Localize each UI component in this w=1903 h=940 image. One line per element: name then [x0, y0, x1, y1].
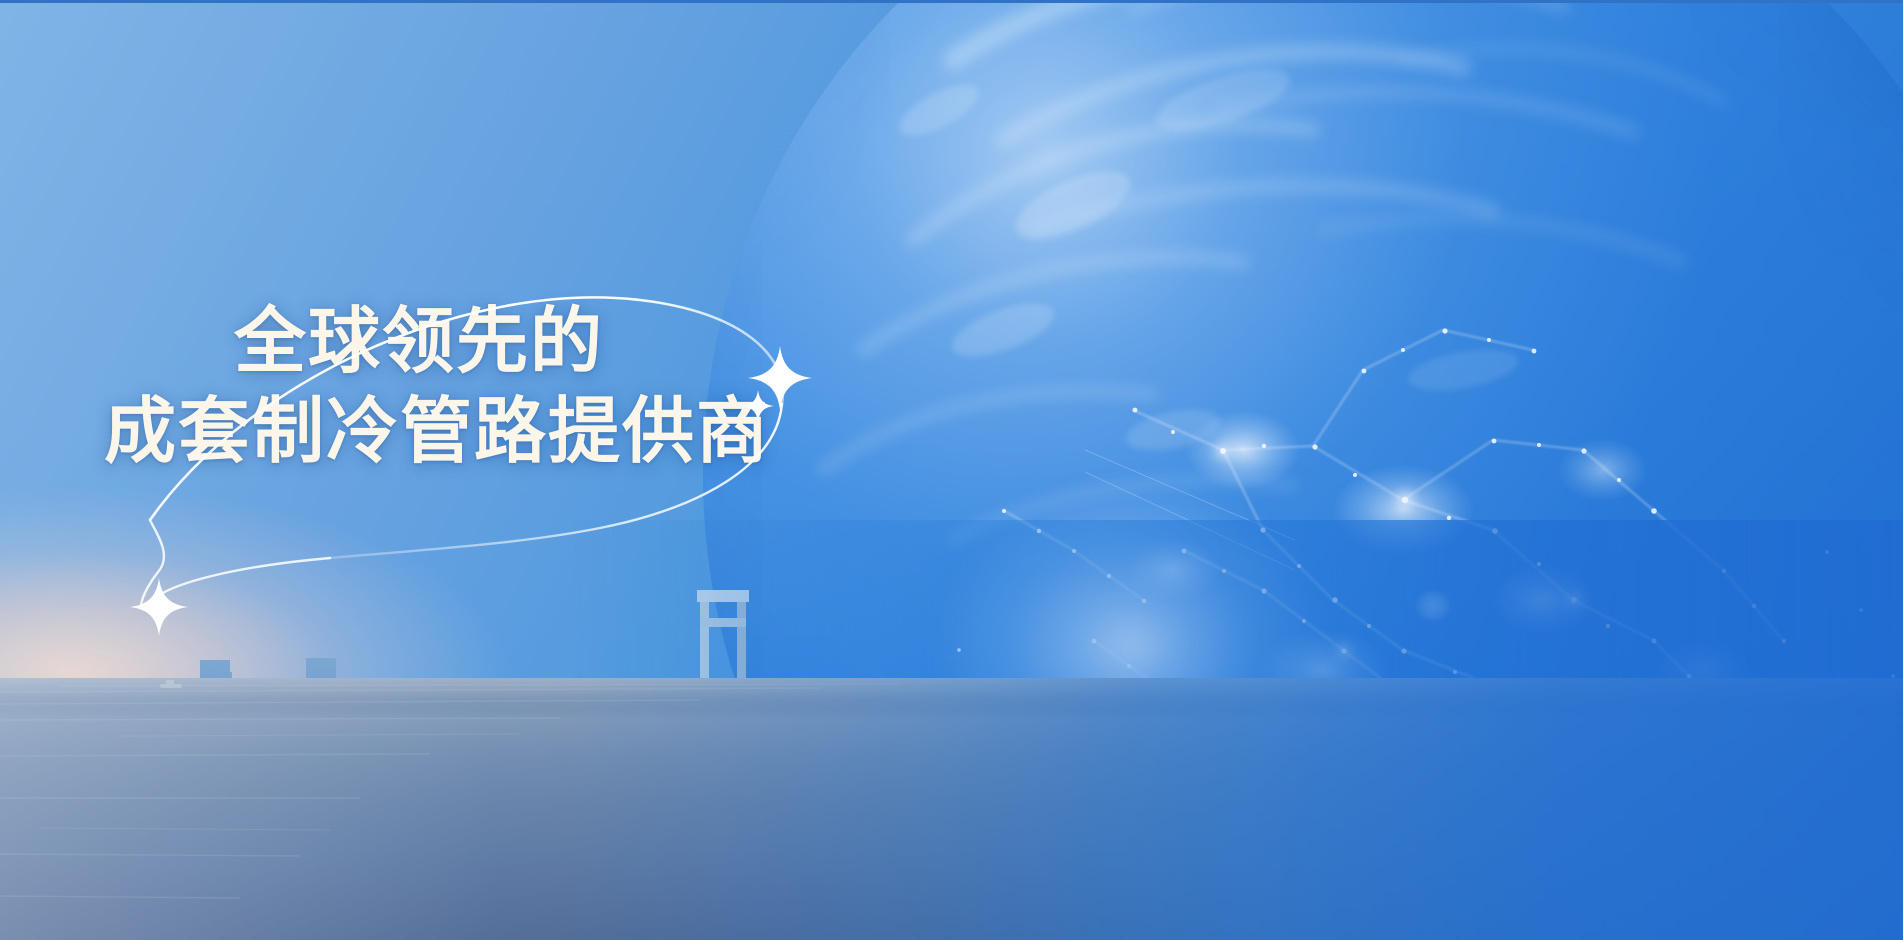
boat	[160, 680, 182, 688]
water-ripples	[0, 678, 1903, 940]
hero-banner: 全球领先的 成套制冷管路提供商	[0, 0, 1903, 940]
top-accent-rule	[0, 0, 1903, 3]
cityscape-scene	[0, 520, 1903, 940]
